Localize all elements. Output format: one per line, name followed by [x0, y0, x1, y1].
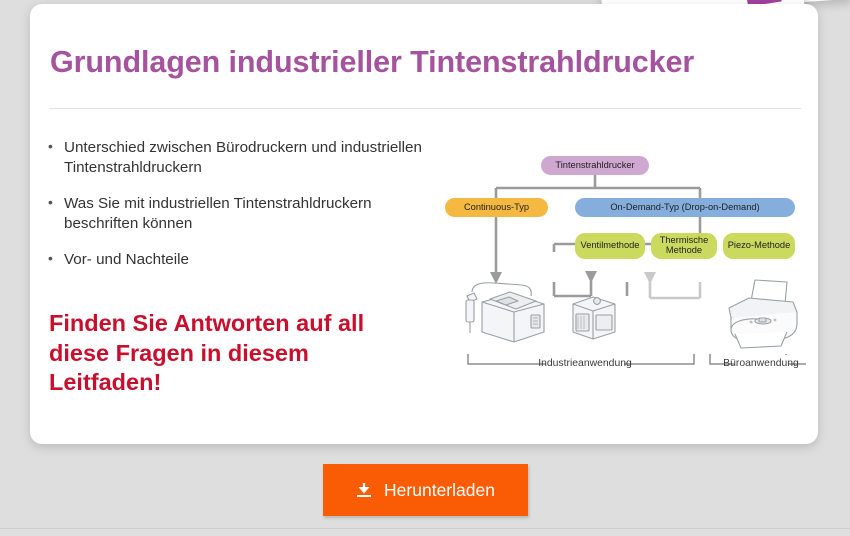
diagram-node-continuous: Continuous-Typ: [445, 198, 548, 217]
list-item: Vor- und Nachteile: [46, 250, 448, 270]
bullet-list: Unterschied zwischen Bürodruckern und in…: [46, 138, 448, 287]
office-desktop-printer-icon: [715, 278, 807, 352]
list-item: Was Sie mit industriellen Tintenstrahldr…: [46, 194, 448, 233]
diagram-connectors: [434, 148, 816, 388]
title-divider: [49, 108, 801, 109]
inkjet-type-diagram: Tintenstrahldrucker Continuous-Typ On-De…: [434, 148, 816, 388]
diagram-node-root: Tintenstrahldrucker: [541, 156, 649, 175]
page-root: Grundlagen industrieller Tintenstrahldru…: [0, 0, 850, 536]
download-button-label: Herunterladen: [384, 480, 495, 501]
list-item: Unterschied zwischen Bürodruckern und in…: [46, 138, 448, 177]
bracket-label-industrial: Industrieanwendung: [546, 355, 624, 373]
guide-card: Grundlagen industrieller Tintenstrahldru…: [30, 4, 818, 444]
call-to-action-text: Finden Sie Antworten auf all diese Frage…: [49, 309, 379, 398]
industrial-inkjet-printer-icon: [452, 278, 552, 350]
diagram-node-ondemand: On-Demand-Typ (Drop-on-Demand): [575, 198, 795, 217]
compact-inkjet-printer-icon: [565, 288, 623, 346]
footer-divider: [0, 528, 850, 529]
page-title: Grundlagen industrieller Tintenstrahldru…: [50, 45, 694, 80]
diagram-node-thermal: Thermische Methode: [651, 233, 717, 259]
download-icon: [355, 482, 373, 498]
download-button-area: Herunterladen: [0, 464, 850, 516]
bracket-label-office: Büroanwendung: [734, 355, 788, 373]
diagram-node-piezo: Piezo-Methode: [723, 233, 795, 259]
download-button[interactable]: Herunterladen: [323, 464, 528, 516]
diagram-node-valve: Ventilmethode: [575, 233, 645, 259]
